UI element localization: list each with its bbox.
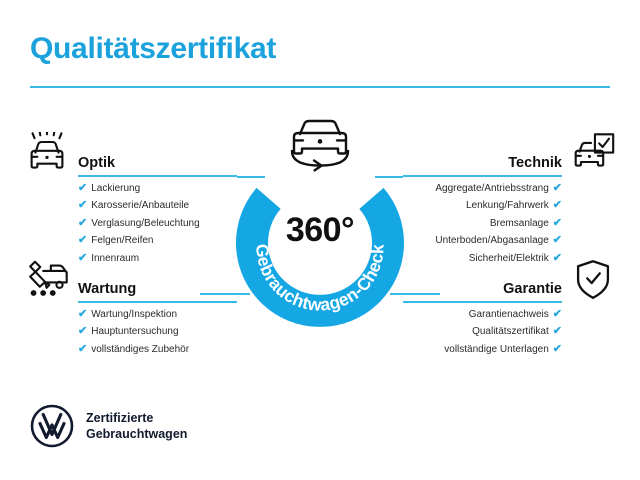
list-item: Aggregate/Antriebsstrang✔ [403, 180, 562, 197]
section-technik-divider [403, 175, 562, 177]
list-item: Unterboden/Abgasanlage✔ [403, 232, 562, 249]
section-technik-list: Aggregate/Antriebsstrang✔ Lenkung/Fahrwe… [403, 180, 618, 267]
list-item: vollständige Unterlagen✔ [403, 341, 562, 358]
list-item: ✔Lackierung [78, 180, 237, 197]
list-item-label: Qualitätszertifikat [472, 326, 549, 337]
list-item: ✔Wartung/Inspektion [78, 306, 237, 323]
shield-check-icon [568, 258, 618, 303]
check-icon: ✔ [78, 199, 87, 211]
list-item-label: Karosserie/Anbauteile [91, 200, 189, 211]
section-technik-header: Technik [403, 132, 618, 180]
list-item: ✔vollständiges Zubehör [78, 341, 237, 358]
car-checkbox-icon [568, 132, 618, 177]
check-icon: ✔ [553, 234, 562, 246]
section-wartung-header: Wartung [22, 258, 237, 306]
section-wartung: Wartung ✔Wartung/Inspektion ✔Hauptunters… [22, 258, 237, 358]
footer-logo-block: Zertifizierte Gebrauchtwagen [30, 404, 187, 448]
volkswagen-logo [30, 404, 74, 448]
certificate-page: Qualitätszertifikat [0, 0, 640, 480]
section-optik-header: Optik [22, 132, 237, 180]
check-icon: ✔ [553, 343, 562, 355]
list-item-label: Lackierung [91, 183, 140, 194]
section-garantie-divider [403, 301, 562, 303]
check-icon: ✔ [553, 199, 562, 211]
check-icon: ✔ [78, 325, 87, 337]
section-optik: Optik ✔Lackierung ✔Karosserie/Anbauteile… [22, 132, 237, 267]
section-wartung-divider [78, 301, 237, 303]
list-item-label: vollständiges Zubehör [91, 344, 189, 355]
check-icon: ✔ [553, 217, 562, 229]
list-item-label: Hauptuntersuchung [91, 326, 178, 337]
check-icon: ✔ [78, 343, 87, 355]
section-optik-title: Optik [78, 155, 115, 171]
badge-360-check: Gebrauchtwagen-Check 360° [228, 155, 412, 339]
list-item: ✔Verglasung/Beleuchtung [78, 215, 237, 232]
check-icon: ✔ [553, 308, 562, 320]
list-item-label: Unterboden/Abgasanlage [435, 235, 548, 246]
section-wartung-title: Wartung [78, 281, 136, 297]
list-item: Lenkung/Fahrwerk✔ [403, 197, 562, 214]
list-item: ✔Karosserie/Anbauteile [78, 197, 237, 214]
section-garantie-title: Garantie [503, 281, 562, 297]
list-item-label: Wartung/Inspektion [91, 309, 177, 320]
section-garantie-list: Garantienachweis✔ Qualitätszertifikat✔ v… [403, 306, 618, 358]
check-icon: ✔ [553, 182, 562, 194]
pen-car-checklist-icon [22, 258, 72, 303]
footer-line-2: Gebrauchtwagen [86, 426, 187, 442]
check-icon: ✔ [553, 325, 562, 337]
section-wartung-list: ✔Wartung/Inspektion ✔Hauptuntersuchung ✔… [22, 306, 237, 358]
list-item-label: Lenkung/Fahrwerk [466, 200, 549, 211]
footer-text: Zertifizierte Gebrauchtwagen [86, 410, 187, 442]
list-item: Qualitätszertifikat✔ [403, 323, 562, 340]
section-optik-list: ✔Lackierung ✔Karosserie/Anbauteile ✔Verg… [22, 180, 237, 267]
check-icon: ✔ [78, 182, 87, 194]
list-item: Bremsanlage✔ [403, 215, 562, 232]
list-item-label: vollständige Unterlagen [444, 344, 549, 355]
car-shine-icon [22, 132, 72, 177]
list-item-label: Bremsanlage [490, 218, 549, 229]
section-garantie-header: Garantie [403, 258, 618, 306]
list-item-label: Garantienachweis [469, 309, 549, 320]
list-item: ✔Felgen/Reifen [78, 232, 237, 249]
list-item-label: Aggregate/Antriebsstrang [435, 183, 548, 194]
list-item: ✔Hauptuntersuchung [78, 323, 237, 340]
badge-center-label: 360° [228, 211, 412, 250]
title-divider [30, 86, 610, 88]
list-item-label: Felgen/Reifen [91, 235, 153, 246]
car-front-rotation-icon [280, 113, 360, 175]
section-technik: Technik Aggregate/Antriebsstrang✔ Lenkun… [403, 132, 618, 267]
footer-line-1: Zertifizierte [86, 410, 187, 426]
check-icon: ✔ [78, 234, 87, 246]
list-item: Garantienachweis✔ [403, 306, 562, 323]
page-title: Qualitätszertifikat [30, 32, 276, 66]
section-garantie: Garantie Garantienachweis✔ Qualitätszert… [403, 258, 618, 358]
list-item-label: Verglasung/Beleuchtung [91, 218, 199, 229]
check-icon: ✔ [78, 217, 87, 229]
check-icon: ✔ [78, 308, 87, 320]
section-optik-divider [78, 175, 237, 177]
section-technik-title: Technik [508, 155, 562, 171]
